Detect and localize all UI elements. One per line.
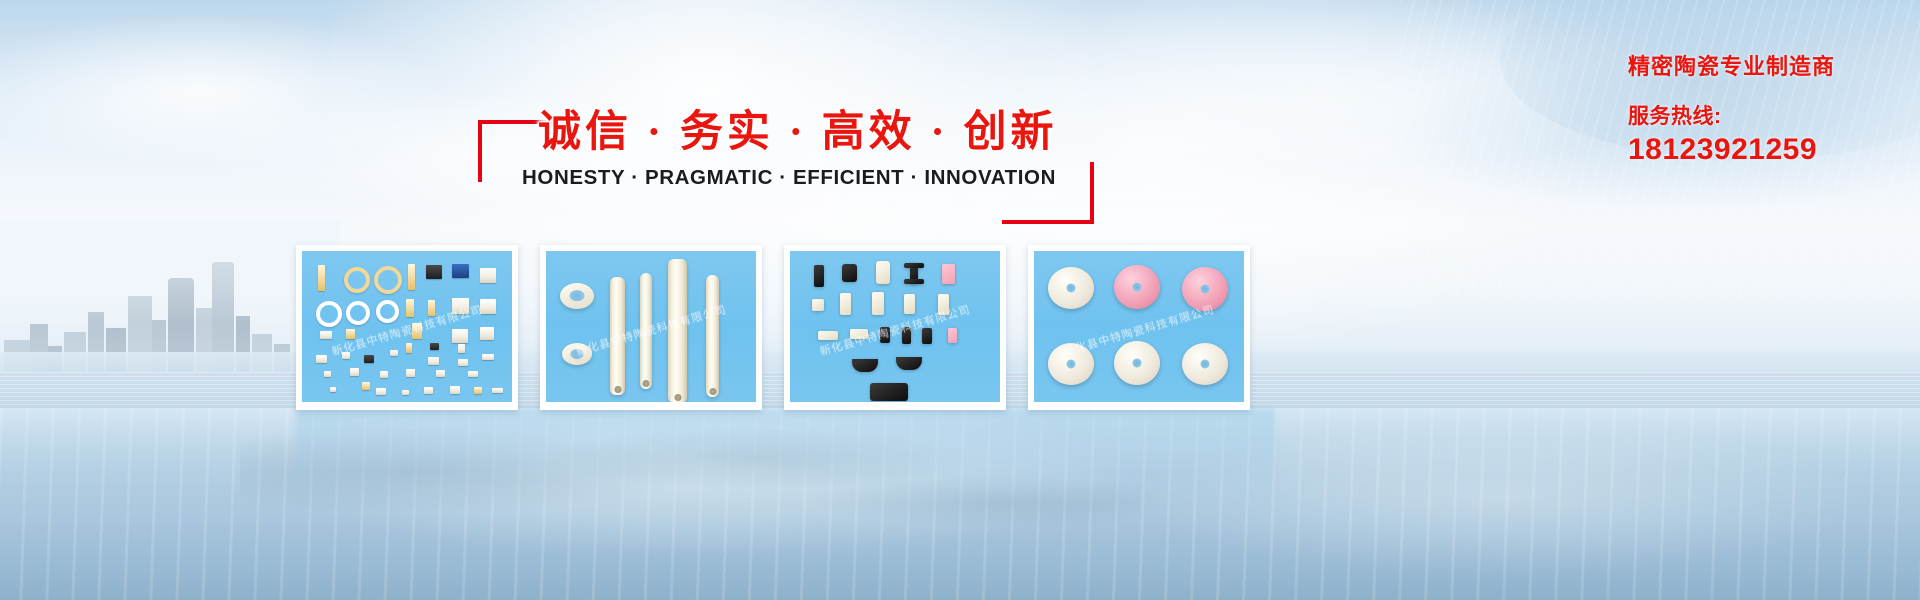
hotline-label: 服务热线: xyxy=(1628,100,1868,130)
product-photo-tubes: 新化县中特陶瓷科技有限公司 xyxy=(546,251,756,402)
product-panel[interactable]: 新化县中特陶瓷科技有限公司 xyxy=(1028,245,1250,410)
watermark-text: 新化县中特陶瓷科技有限公司 xyxy=(1062,300,1216,358)
product-panel[interactable]: 新化县中特陶瓷科技有限公司 xyxy=(784,245,1006,410)
contact-block: 精密陶瓷专业制造商 服务热线: 18123921259 xyxy=(1628,52,1868,167)
cloud-shape xyxy=(0,10,460,160)
wet-ground xyxy=(0,408,1920,600)
watermark-text: 新化县中特陶瓷科技有限公司 xyxy=(330,300,484,358)
product-photo-discs: 新化县中特陶瓷科技有限公司 xyxy=(1034,251,1244,402)
slogan-chinese: 诚信 · 务实 · 高效 · 创新 xyxy=(538,108,1038,159)
ground-tire-marks xyxy=(240,430,1140,580)
watermark-text: 新化县中特陶瓷科技有限公司 xyxy=(574,300,728,358)
product-panel-row: 新化县中特陶瓷科技有限公司 新化县中特陶瓷科技有限公司 xyxy=(296,245,1276,410)
product-panel[interactable]: 新化县中特陶瓷科技有限公司 xyxy=(540,245,762,410)
slogan-block: 诚信 · 务实 · 高效 · 创新 HONESTY · PRAGMATIC · … xyxy=(478,108,1094,200)
product-panel[interactable]: 新化县中特陶瓷科技有限公司 xyxy=(296,245,518,410)
slogan-english: HONESTY · PRAGMATIC · EFFICIENT · INNOVA… xyxy=(516,166,1062,190)
atmospheric-haze xyxy=(0,220,340,410)
watermark-text: 新化县中特陶瓷科技有限公司 xyxy=(818,300,972,358)
hero-banner: 诚信 · 务实 · 高效 · 创新 HONESTY · PRAGMATIC · … xyxy=(0,0,1920,600)
product-photo-smd: 新化县中特陶瓷科技有限公司 xyxy=(302,251,512,402)
product-photo-blocks: 新化县中特陶瓷科技有限公司 xyxy=(790,251,1000,402)
hotline-number[interactable]: 18123921259 xyxy=(1628,133,1868,167)
city-skyline xyxy=(0,242,300,382)
panel-reflection xyxy=(296,408,1276,528)
ground-reflection xyxy=(0,408,1920,600)
company-tagline: 精密陶瓷专业制造商 xyxy=(1628,52,1868,82)
